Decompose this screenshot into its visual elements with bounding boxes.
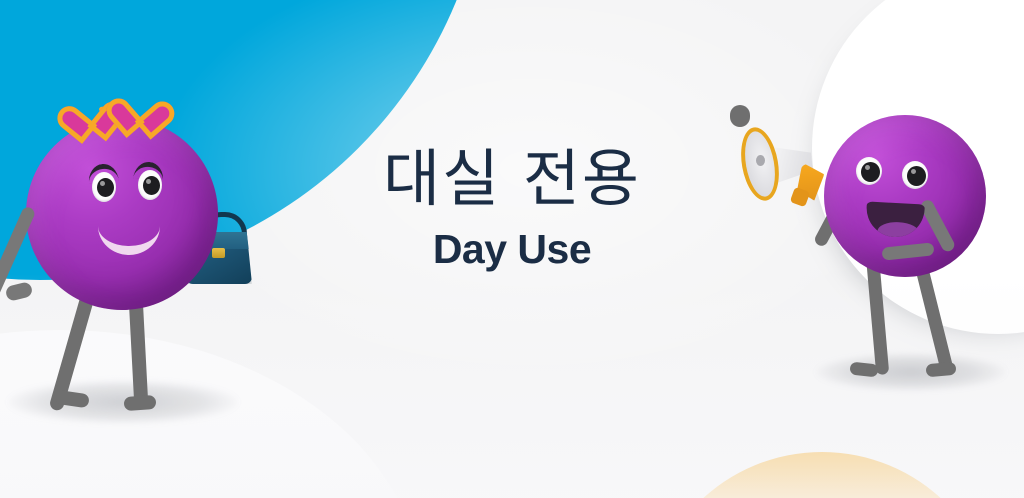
heart-sunglasses-lens-right xyxy=(103,94,154,141)
mascot-right-hand-megaphone xyxy=(730,105,750,127)
mascot-left-hand-down xyxy=(5,281,34,302)
headline-block: 대실 전용 Day Use xyxy=(0,148,1024,273)
orange-circle-shape xyxy=(646,452,998,498)
headline-english: Day Use xyxy=(0,226,1024,273)
day-use-banner: 대실 전용 Day Use xyxy=(0,0,1024,498)
mascot-left-foot-inner xyxy=(124,395,157,411)
headline-korean: 대실 전용 xyxy=(0,148,1024,210)
heart-frame-right xyxy=(103,94,154,141)
heart-frame-left xyxy=(54,100,106,149)
mascot-right-shadow xyxy=(816,353,1006,391)
heart-sunglasses-lens-left xyxy=(54,100,106,149)
